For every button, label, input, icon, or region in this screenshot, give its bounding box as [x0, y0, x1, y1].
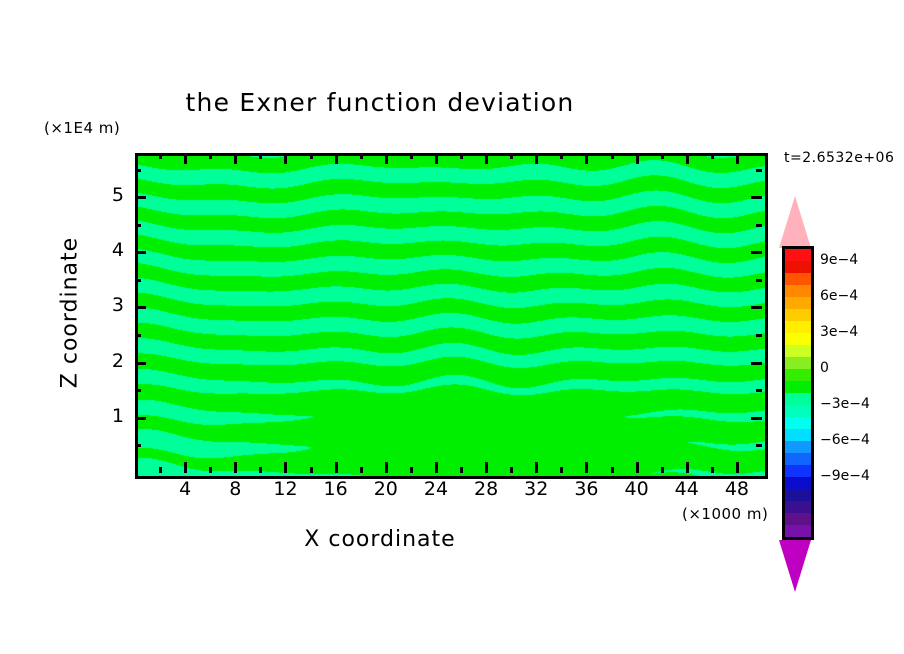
colorbar-band: [785, 357, 811, 369]
x-tick-major-top: [636, 153, 639, 164]
colorbar-under-arrow-icon: [779, 540, 811, 592]
y-axis-unit-label: (×1E4 m): [44, 119, 120, 137]
x-tick-major-top: [686, 153, 689, 164]
x-tick-major-top: [736, 153, 739, 164]
colorbar-tick-label: 9e−4: [820, 252, 858, 268]
x-tick-minor-top: [661, 153, 664, 159]
y-tick-minor-right: [756, 224, 762, 227]
x-tick-minor-top: [410, 153, 413, 159]
y-tick-minor: [135, 279, 141, 282]
y-tick-major-right: [751, 362, 762, 365]
x-axis-unit-label: (×1000 m): [682, 505, 768, 523]
colorbar-band: [785, 369, 811, 381]
x-tick-label: 16: [316, 478, 356, 500]
timestamp-label: t=2.6532e+06: [784, 150, 894, 166]
y-tick-minor: [135, 444, 141, 447]
x-tick-major: [485, 462, 488, 473]
x-tick-minor: [661, 467, 664, 473]
y-tick-label: 1: [96, 405, 124, 427]
y-tick-major-right: [751, 251, 762, 254]
colorbar-tick-label: −6e−4: [820, 432, 870, 448]
x-tick-major: [535, 462, 538, 473]
x-tick-major: [385, 462, 388, 473]
x-tick-label: 48: [717, 478, 757, 500]
y-tick-label: 5: [96, 184, 124, 206]
colorbar-band: [785, 477, 811, 489]
colorbar-band: [785, 513, 811, 525]
x-tick-major: [335, 462, 338, 473]
colorbar-band: [785, 429, 811, 441]
x-tick-minor: [310, 467, 313, 473]
x-tick-label: 20: [366, 478, 406, 500]
x-tick-label: 32: [516, 478, 556, 500]
colorbar-band: [785, 525, 811, 537]
x-tick-major-top: [585, 153, 588, 164]
colorbar-tick-label: −9e−4: [820, 468, 870, 484]
colorbar-band: [785, 273, 811, 285]
y-tick-major-right: [751, 306, 762, 309]
x-tick-minor-top: [259, 153, 262, 159]
y-tick-minor-right: [756, 169, 762, 172]
x-tick-label: 24: [416, 478, 456, 500]
x-tick-major-top: [385, 153, 388, 164]
x-tick-major: [585, 462, 588, 473]
colorbar-band: [785, 393, 811, 405]
x-tick-minor: [711, 467, 714, 473]
x-tick-minor: [159, 467, 162, 473]
x-tick-major: [435, 462, 438, 473]
colorbar-band: [785, 321, 811, 333]
colorbar-band: [785, 297, 811, 309]
y-tick-major: [135, 196, 146, 199]
x-tick-minor: [259, 467, 262, 473]
colorbar-band: [785, 441, 811, 453]
colorbar-band: [785, 417, 811, 429]
y-tick-major: [135, 362, 146, 365]
y-tick-major: [135, 306, 146, 309]
x-tick-label: 40: [617, 478, 657, 500]
colorbar-band: [785, 501, 811, 513]
y-tick-minor: [135, 389, 141, 392]
x-tick-minor-top: [310, 153, 313, 159]
x-tick-major-top: [435, 153, 438, 164]
x-tick-minor-top: [560, 153, 563, 159]
x-tick-major-top: [535, 153, 538, 164]
y-tick-minor: [135, 169, 141, 172]
colorbar-band: [785, 381, 811, 393]
colorbar-band: [785, 453, 811, 465]
y-tick-label: 4: [96, 239, 124, 261]
colorbar-band: [785, 465, 811, 477]
x-tick-minor: [611, 467, 614, 473]
x-tick-major: [284, 462, 287, 473]
colorbar-band: [785, 261, 811, 273]
x-tick-major-top: [234, 153, 237, 164]
y-tick-minor-right: [756, 279, 762, 282]
x-tick-label: 44: [667, 478, 707, 500]
x-tick-minor: [510, 467, 513, 473]
x-tick-minor-top: [209, 153, 212, 159]
x-tick-minor-top: [360, 153, 363, 159]
contour-plot-area: [135, 153, 768, 479]
y-tick-label: 2: [96, 350, 124, 372]
colorbar-band: [785, 405, 811, 417]
y-axis-title: Z coordinate: [58, 213, 83, 413]
colorbar-band: [785, 345, 811, 357]
y-tick-major-right: [751, 417, 762, 420]
y-tick-major: [135, 251, 146, 254]
x-tick-minor-top: [510, 153, 513, 159]
y-tick-minor: [135, 334, 141, 337]
colorbar-tick-label: 0: [820, 360, 829, 376]
x-tick-minor: [460, 467, 463, 473]
page-title: the Exner function deviation: [0, 88, 760, 117]
y-tick-label: 3: [96, 294, 124, 316]
colorbar-band: [785, 489, 811, 501]
x-tick-major-top: [184, 153, 187, 164]
x-tick-major: [636, 462, 639, 473]
y-tick-major-right: [751, 196, 762, 199]
colorbar-tick-label: 3e−4: [820, 324, 858, 340]
x-tick-label: 8: [215, 478, 255, 500]
x-tick-minor-top: [159, 153, 162, 159]
y-tick-minor: [135, 224, 141, 227]
x-tick-minor: [209, 467, 212, 473]
x-tick-major-top: [485, 153, 488, 164]
colorbar-bands: [782, 246, 814, 540]
x-tick-label: 28: [466, 478, 506, 500]
x-tick-label: 12: [265, 478, 305, 500]
y-tick-minor-right: [756, 444, 762, 447]
x-tick-major-top: [284, 153, 287, 164]
x-tick-minor-top: [460, 153, 463, 159]
x-axis-title: X coordinate: [0, 527, 760, 552]
x-tick-minor: [410, 467, 413, 473]
contour-field: [138, 156, 765, 476]
x-tick-label: 4: [165, 478, 205, 500]
x-tick-major: [736, 462, 739, 473]
colorbar-over-arrow-icon: [779, 196, 811, 248]
x-tick-minor: [360, 467, 363, 473]
x-tick-major: [234, 462, 237, 473]
x-tick-minor-top: [611, 153, 614, 159]
colorbar-tick-label: −3e−4: [820, 396, 870, 412]
colorbar-band: [785, 249, 811, 261]
colorbar-band: [785, 285, 811, 297]
y-tick-minor-right: [756, 334, 762, 337]
colorbar-band: [785, 309, 811, 321]
x-tick-major-top: [335, 153, 338, 164]
x-tick-label: 36: [566, 478, 606, 500]
x-tick-major: [686, 462, 689, 473]
y-tick-major: [135, 417, 146, 420]
colorbar-tick-label: 6e−4: [820, 288, 858, 304]
colorbar-band: [785, 333, 811, 345]
x-tick-minor: [560, 467, 563, 473]
x-tick-major: [184, 462, 187, 473]
y-tick-minor-right: [756, 389, 762, 392]
x-tick-minor-top: [711, 153, 714, 159]
